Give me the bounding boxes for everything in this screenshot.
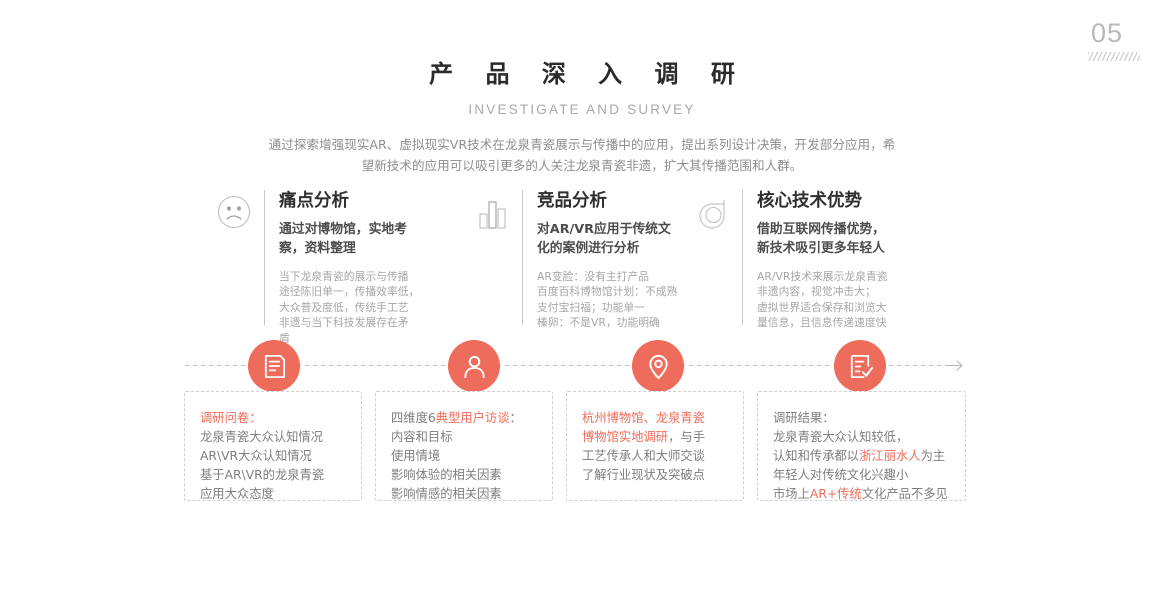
card-line: 龙泉青瓷大众认知情况 <box>200 428 347 447</box>
timeline-node-3[interactable] <box>632 340 684 392</box>
feature-column-competitor: 竞品分析 对AR/VR应用于传统文 化的案例进行分析 AR变脸：没有主打产品 百… <box>466 190 686 346</box>
intro-paragraph: 通过探索增强现实AR、虚拟现实VR技术在龙泉青瓷展示与传播中的应用，提出系列设计… <box>221 134 943 176</box>
card-text: 工艺传承人和大师交谈 <box>582 449 705 463</box>
card-text: 了解行业现状及突破点 <box>582 468 705 482</box>
intro-line-1: 通过探索增强现实AR、虚拟现实VR技术在龙泉青瓷展示与传播中的应用，提出系列设计… <box>221 134 943 155</box>
intro-line-2: 望新技术的应用可以吸引更多的人关注龙泉青瓷非遗，扩大其传播范围和人群。 <box>221 155 943 176</box>
column-body: 痛点分析 通过对博物馆，实地考 察，资料整理 当下龙泉青瓷的展示与传播 途径陈旧… <box>279 190 419 346</box>
card-line: 了解行业现状及突破点 <box>582 466 729 485</box>
questionnaire-document-icon <box>261 353 288 380</box>
column-title: 核心技术优势 <box>757 191 888 213</box>
feature-columns: 痛点分析 通过对博物馆，实地考 察，资料整理 当下龙泉青瓷的展示与传播 途径陈旧… <box>208 190 968 346</box>
highlighted-text: 典型用户访谈 <box>436 411 510 425</box>
column-description: 当下龙泉青瓷的展示与传播 途径陈旧单一，传播效率低， 大众普及度低，传统手工艺 … <box>279 269 419 347</box>
timeline-node-4[interactable] <box>834 340 886 392</box>
column-lead: 对AR/VR应用于传统文 化的案例进行分析 <box>537 220 677 258</box>
card-line: 杭州博物馆、龙泉青瓷 <box>582 409 729 428</box>
hatch-decoration <box>1088 52 1140 61</box>
column-divider <box>522 190 523 325</box>
card-line: 调研结果： <box>773 409 951 428</box>
column-lead-line-2: 察，资料整理 <box>279 239 419 258</box>
page-subtitle: INVESTIGATE AND SURVEY <box>0 102 1164 117</box>
highlighted-text: 杭州博物馆、龙泉青瓷 <box>582 411 705 425</box>
desc-line: AR/VR技术来展示龙泉青瓷 <box>757 269 888 285</box>
desc-line: AR变脸：没有主打产品 <box>537 269 677 285</box>
card-line: 年轻人对传统文化兴趣小 <box>773 466 951 485</box>
card-text: 影响情感的相关因素 <box>391 487 502 501</box>
feature-column-core-tech: 核心技术优势 借助互联网传播优势， 新技术吸引更多年轻人 AR/VR技术来展示龙… <box>686 190 936 346</box>
card-text: 基于AR\VR的龙泉青瓷 <box>200 468 324 482</box>
timeline-node-1[interactable] <box>248 340 300 392</box>
bar-chart-icon <box>466 190 518 236</box>
card-text: 应用大众态度 <box>200 487 274 501</box>
card-line: AR\VR大众认知情况 <box>200 447 347 466</box>
card-text: ： <box>510 411 522 425</box>
highlighted-text: 博物馆实地调研 <box>582 430 668 444</box>
timeline-arrow-icon <box>948 358 964 373</box>
card-line: 使用情境 <box>391 447 538 466</box>
card-line: 影响体验的相关因素 <box>391 466 538 485</box>
card-line: 市场上AR+传统文化产品不多见 <box>773 485 951 504</box>
column-lead-line-2: 化的案例进行分析 <box>537 239 677 258</box>
desc-line: 量信息，且信息传递速度快 <box>757 315 888 331</box>
card-line: 龙泉青瓷大众认知较低， <box>773 428 951 447</box>
page-title: 产 品 深 入 调 研 <box>0 54 1164 89</box>
card-text: 认知和传承都以 <box>773 449 859 463</box>
column-lead-line-1: 通过对博物馆，实地考 <box>279 220 419 239</box>
slide-root: 05 产 品 深 入 调 研 INVESTIGATE AND SURVEY 通过… <box>0 0 1164 600</box>
highlighted-text: AR+传统 <box>810 487 862 501</box>
column-lead-line-2: 新技术吸引更多年轻人 <box>757 239 888 258</box>
card-line: 内容和目标 <box>391 428 538 447</box>
card-text: 龙泉青瓷大众认知情况 <box>200 430 323 444</box>
card-text: 市场上 <box>773 487 810 501</box>
research-card-list: 调研问卷：龙泉青瓷大众认知情况AR\VR大众认知情况基于AR\VR的龙泉青瓷应用… <box>184 391 968 501</box>
research-card: 调研问卷：龙泉青瓷大众认知情况AR\VR大众认知情况基于AR\VR的龙泉青瓷应用… <box>184 391 362 501</box>
slide-header: 产 品 深 入 调 研 INVESTIGATE AND SURVEY 通过探索增… <box>0 0 1164 176</box>
desc-line: 盾 <box>279 331 419 347</box>
card-text: 龙泉青瓷大众认知较低， <box>773 430 908 444</box>
timeline-node-2[interactable] <box>448 340 500 392</box>
feature-column-pain-points: 痛点分析 通过对博物馆，实地考 察，资料整理 当下龙泉青瓷的展示与传播 途径陈旧… <box>208 190 466 346</box>
column-lead-line-1: 借助互联网传播优势， <box>757 220 888 239</box>
card-text: 文化产品不多见 <box>862 487 948 501</box>
page-number-badge: 05 <box>1072 20 1142 61</box>
column-divider <box>742 190 743 325</box>
column-title: 竞品分析 <box>537 191 677 213</box>
droplet-icon <box>686 190 738 236</box>
column-lead-line-1: 对AR/VR应用于传统文 <box>537 220 677 239</box>
desc-line: 非遗内容，视觉冲击大； <box>757 284 888 300</box>
card-line: 影响情感的相关因素 <box>391 485 538 504</box>
desc-line: 非遗与当下科技发展存在矛 <box>279 315 419 331</box>
card-text: ，与手 <box>668 430 705 444</box>
card-line: 博物馆实地调研，与手 <box>582 428 729 447</box>
research-card: 杭州博物馆、龙泉青瓷博物馆实地调研，与手工艺传承人和大师交谈了解行业现状及突破点 <box>566 391 744 501</box>
card-line: 工艺传承人和大师交谈 <box>582 447 729 466</box>
column-divider <box>264 190 265 325</box>
card-line: 基于AR\VR的龙泉青瓷 <box>200 466 347 485</box>
desc-line: 当下龙泉青瓷的展示与传播 <box>279 269 419 285</box>
card-line: 调研问卷： <box>200 409 347 428</box>
checklist-result-icon <box>847 353 874 380</box>
card-text: 四维度6 <box>391 411 436 425</box>
column-body: 核心技术优势 借助互联网传播优势， 新技术吸引更多年轻人 AR/VR技术来展示龙… <box>757 190 888 346</box>
location-pin-icon <box>645 353 672 380</box>
card-line: 认知和传承都以浙江丽水人为主 <box>773 447 951 466</box>
desc-line: 支付宝扫福；功能单一 <box>537 300 677 316</box>
card-text: 使用情境 <box>391 449 440 463</box>
column-description: AR/VR技术来展示龙泉青瓷 非遗内容，视觉冲击大； 虚拟世界适合保存和浏览大 … <box>757 269 888 331</box>
sad-face-icon <box>208 190 260 236</box>
card-text: 为主 <box>921 449 946 463</box>
card-text: AR\VR大众认知情况 <box>200 449 312 463</box>
desc-line: 途径陈旧单一，传播效率低， <box>279 284 419 300</box>
desc-line: 百度百科博物馆计划：不成熟 <box>537 284 677 300</box>
card-text: 影响体验的相关因素 <box>391 468 502 482</box>
user-person-icon <box>461 353 488 380</box>
column-lead: 通过对博物馆，实地考 察，资料整理 <box>279 220 419 258</box>
research-card: 调研结果：龙泉青瓷大众认知较低，认知和传承都以浙江丽水人为主年轻人对传统文化兴趣… <box>757 391 966 501</box>
card-line: 应用大众态度 <box>200 485 347 504</box>
card-text: 年轻人对传统文化兴趣小 <box>773 468 908 482</box>
column-lead: 借助互联网传播优势， 新技术吸引更多年轻人 <box>757 220 888 258</box>
column-title: 痛点分析 <box>279 191 419 213</box>
research-card: 四维度6典型用户访谈：内容和目标使用情境影响体验的相关因素影响情感的相关因素 <box>375 391 553 501</box>
card-text: 内容和目标 <box>391 430 453 444</box>
column-description: AR变脸：没有主打产品 百度百科博物馆计划：不成熟 支付宝扫福；功能单一 榛卵：… <box>537 269 677 331</box>
highlighted-text: 调研问卷： <box>200 411 262 425</box>
desc-line: 大众普及度低，传统手工艺 <box>279 300 419 316</box>
page-number: 05 <box>1072 20 1142 47</box>
card-line: 四维度6典型用户访谈： <box>391 409 538 428</box>
card-text: 调研结果： <box>773 411 835 425</box>
desc-line: 榛卵：不是VR，功能明确 <box>537 315 677 331</box>
column-body: 竞品分析 对AR/VR应用于传统文 化的案例进行分析 AR变脸：没有主打产品 百… <box>537 190 677 346</box>
desc-line: 虚拟世界适合保存和浏览大 <box>757 300 888 316</box>
highlighted-text: 浙江丽水人 <box>859 449 921 463</box>
